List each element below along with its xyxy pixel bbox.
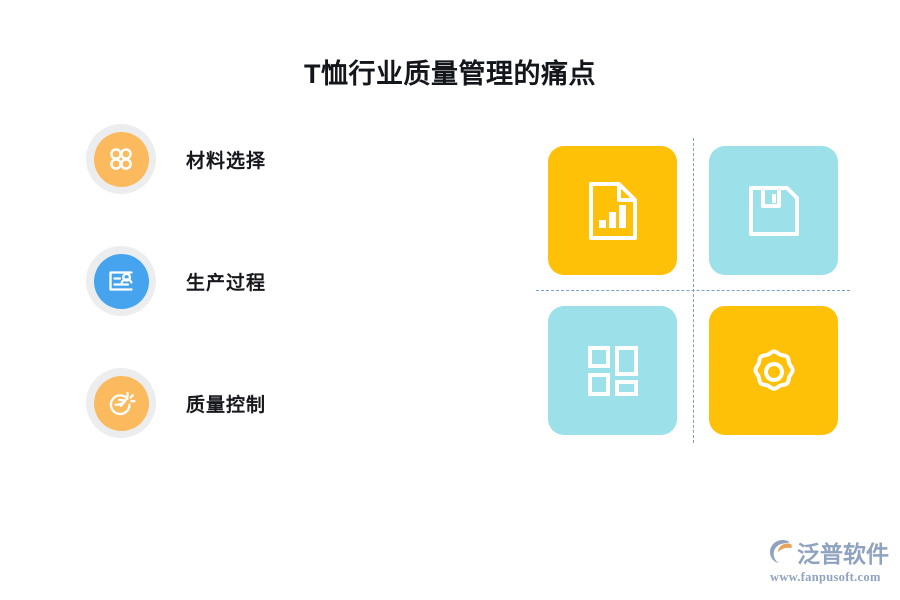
feature-item-quality-control[interactable]: 质量控制 — [86, 368, 416, 438]
tile-document-chart[interactable] — [548, 146, 677, 275]
feature-list: 材料选择 生产过程 — [86, 124, 416, 438]
id-card-person-icon — [94, 254, 149, 309]
feature-label: 材料选择 — [186, 146, 266, 173]
slide-canvas: T恤行业质量管理的痛点 材料选择 — [0, 0, 900, 600]
feature-label: 生产过程 — [186, 268, 266, 295]
tile-dashboard[interactable] — [548, 306, 677, 435]
dashboard-grid-icon — [586, 344, 640, 398]
brand-url: www.fanpusoft.com — [770, 570, 881, 585]
brand-logo: 泛普软件 www.fanpusoft.com — [768, 539, 892, 585]
tile-grid — [548, 146, 838, 435]
page-title: T恤行业质量管理的痛点 — [0, 57, 900, 91]
grid-divider-horizontal — [536, 290, 850, 291]
floppy-save-icon — [745, 182, 803, 240]
efficiency-arrow-icon — [94, 376, 149, 431]
four-dots-material-icon — [94, 132, 149, 187]
brand-logo-row: 泛普软件 — [768, 539, 889, 569]
brand-name: 泛普软件 — [797, 541, 889, 567]
fanpu-arc-logo-icon — [768, 539, 794, 569]
feature-icon-ring — [86, 246, 156, 316]
tile-settings[interactable] — [709, 306, 838, 435]
document-chart-icon — [585, 180, 641, 242]
feature-icon-ring — [86, 368, 156, 438]
gear-settings-icon — [744, 341, 804, 401]
tile-save[interactable] — [709, 146, 838, 275]
feature-item-material-selection[interactable]: 材料选择 — [86, 124, 416, 194]
feature-icon-ring — [86, 124, 156, 194]
feature-item-production-process[interactable]: 生产过程 — [86, 246, 416, 316]
feature-label: 质量控制 — [186, 390, 266, 417]
